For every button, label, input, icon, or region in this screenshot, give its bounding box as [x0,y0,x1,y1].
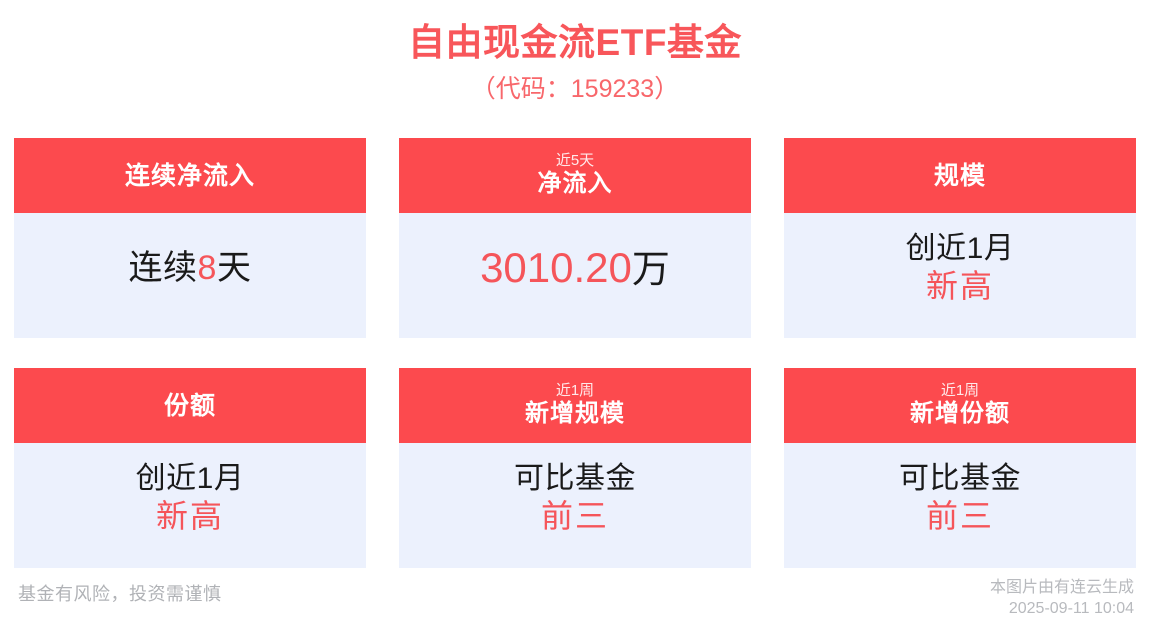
value-unit: 万 [632,249,670,291]
card-header: 份额 [14,368,366,443]
card-value: 连续8天 [129,249,252,288]
card-header: 近5天 净流入 [399,138,751,213]
card-body: 创近1月 新高 [784,213,1136,338]
card-value-line2: 新高 [926,268,994,305]
card-heading: 新增规模 [525,401,625,428]
card-period-label: 近1周 [941,383,979,400]
card-body: 3010.20万 [399,213,751,338]
card-header: 近1周 新增份额 [784,368,1136,443]
generation-timestamp: 2025-09-11 10:04 [990,598,1134,620]
metric-card-grid: 连续净流入 连续8天 近5天 净流入 3010.20万 规模 创近1月 新高 [14,138,1136,568]
metric-card-scale-growth-1w: 近1周 新增规模 可比基金 前三 [399,368,751,568]
card-body: 连续8天 [14,213,366,338]
card-value: 3010.20万 [480,244,670,293]
card-heading: 新增份额 [910,401,1010,428]
card-value-line2: 前三 [541,498,609,535]
infographic-page: 自由现金流ETF基金 （代码：159233） 连续净流入 连续8天 近5天 净流… [0,0,1150,632]
metric-card-continuous-net-inflow: 连续净流入 连续8天 [14,138,366,338]
card-value-line1: 可比基金 [514,462,636,497]
card-period-label: 近5天 [556,153,594,170]
card-value-line2: 前三 [926,498,994,535]
card-value-line1: 可比基金 [899,462,1021,497]
value-highlight: 8 [198,249,217,287]
metric-card-scale: 规模 创近1月 新高 [784,138,1136,338]
metric-card-shares: 份额 创近1月 新高 [14,368,366,568]
card-header: 近1周 新增规模 [399,368,751,443]
card-body: 可比基金 前三 [784,443,1136,568]
value-number: 3010.20 [480,244,632,291]
card-header: 规模 [784,138,1136,213]
value-suffix: 天 [217,249,252,287]
card-heading: 份额 [164,392,216,420]
card-value-line2: 新高 [156,498,224,535]
card-value-line1: 创近1月 [136,462,245,497]
metric-card-net-inflow-5d: 近5天 净流入 3010.20万 [399,138,751,338]
card-period-label: 近1周 [556,383,594,400]
image-source-block: 本图片由有连云生成 2025-09-11 10:04 [990,577,1134,620]
metric-card-share-growth-1w: 近1周 新增份额 可比基金 前三 [784,368,1136,568]
image-source: 本图片由有连云生成 [990,577,1134,599]
card-header: 连续净流入 [14,138,366,213]
risk-disclaimer: 基金有风险，投资需谨慎 [18,580,222,606]
card-heading: 规模 [934,162,986,190]
card-heading: 净流入 [538,171,613,198]
card-value-line1: 创近1月 [906,232,1015,267]
page-title: 自由现金流ETF基金 [0,22,1150,65]
card-heading: 连续净流入 [125,162,255,190]
title-block: 自由现金流ETF基金 （代码：159233） [0,0,1150,104]
card-body: 可比基金 前三 [399,443,751,568]
card-body: 创近1月 新高 [14,443,366,568]
fund-code: （代码：159233） [0,74,1150,104]
value-prefix: 连续 [129,249,198,287]
